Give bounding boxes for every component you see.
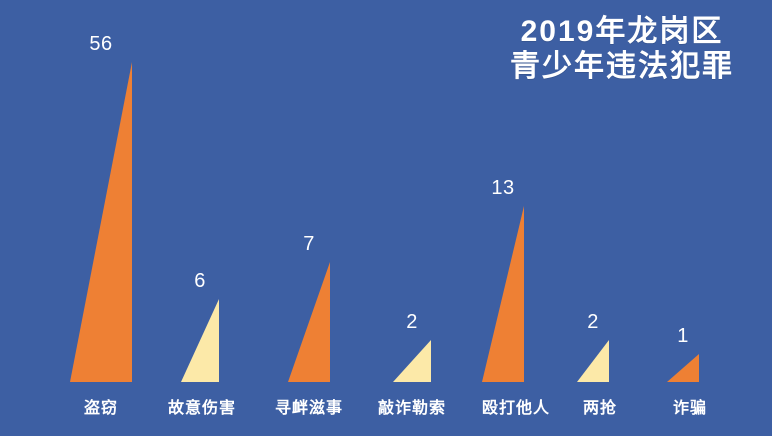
bar-group: 56盗窃 — [58, 0, 144, 436]
bar-value-label: 1 — [648, 325, 718, 348]
bar-category-label: 两抢 — [565, 394, 635, 418]
bar-value-label: 56 — [58, 33, 144, 56]
plot-area: 56盗窃6故意伤害7寻衅滋事2敲诈勒索13殴打他人2两抢1诈骗 — [0, 0, 772, 436]
bar-category-label: 诈骗 — [655, 394, 725, 418]
bar-triangle[interactable] — [70, 62, 132, 382]
bar-category-label: 敲诈勒索 — [362, 394, 462, 418]
bar-category-label: 盗窃 — [58, 394, 144, 418]
bar-category-label: 故意伤害 — [152, 394, 252, 418]
bar-value-label: 7 — [259, 233, 359, 256]
bar-triangle[interactable] — [288, 262, 330, 382]
bar-group: 2两抢 — [565, 0, 635, 436]
bar-group: 13殴打他人 — [466, 0, 566, 436]
bar-category-label: 殴打他人 — [466, 394, 566, 418]
bar-group: 1诈骗 — [655, 0, 725, 436]
bar-category-label: 寻衅滋事 — [259, 394, 359, 418]
bar-value-label: 13 — [453, 177, 553, 200]
bar-triangle[interactable] — [482, 206, 524, 382]
bar-group: 7寻衅滋事 — [259, 0, 359, 436]
bar-value-label: 2 — [558, 311, 628, 334]
bar-value-label: 2 — [362, 311, 462, 334]
bar-triangle[interactable] — [393, 340, 431, 382]
bar-value-label: 6 — [150, 270, 250, 293]
bar-group: 2敲诈勒索 — [362, 0, 462, 436]
bar-group: 6故意伤害 — [152, 0, 252, 436]
bar-triangle[interactable] — [181, 299, 219, 382]
bar-triangle[interactable] — [577, 340, 609, 382]
chart-container: 2019年龙岗区 青少年违法犯罪 56盗窃6故意伤害7寻衅滋事2敲诈勒索13殴打… — [0, 0, 772, 436]
bar-triangle[interactable] — [667, 354, 699, 382]
